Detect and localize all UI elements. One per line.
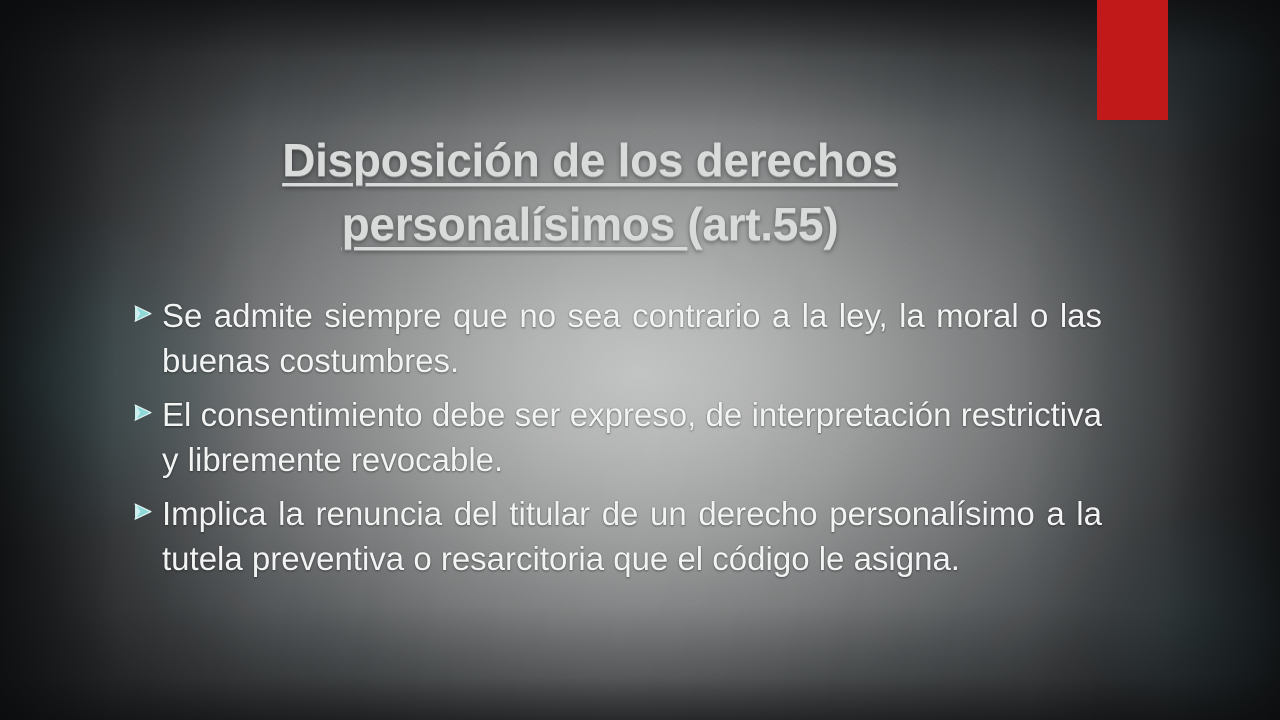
arrow-bullet-icon <box>132 392 162 424</box>
list-item: Implica la renuncia del titular de un de… <box>132 491 1102 581</box>
arrow-bullet-icon <box>132 491 162 523</box>
slide-bullet-list: Se admite siempre que no sea contrario a… <box>132 293 1102 590</box>
list-item-text: Se admite siempre que no sea contrario a… <box>162 293 1102 383</box>
list-item-text: Implica la renuncia del titular de un de… <box>162 491 1102 581</box>
slide-title: Disposición de los derechos personalísim… <box>150 128 1030 256</box>
list-item: Se admite siempre que no sea contrario a… <box>132 293 1102 383</box>
list-item: El consentimiento debe ser expreso, de i… <box>132 392 1102 482</box>
arrow-bullet-icon <box>132 293 162 325</box>
red-accent-block <box>1097 0 1168 120</box>
presentation-slide: Disposición de los derechos personalísim… <box>0 0 1280 720</box>
list-item-text: El consentimiento debe ser expreso, de i… <box>162 392 1102 482</box>
slide-title-plain-text: (art.55) <box>687 198 838 250</box>
